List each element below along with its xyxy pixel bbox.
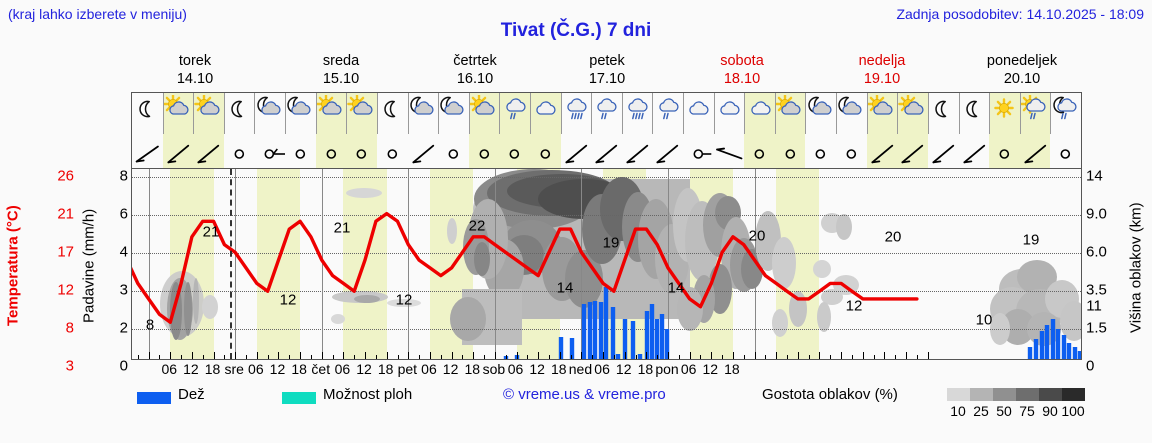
icon-cell-divider — [499, 93, 500, 136]
x-tick — [744, 355, 745, 359]
weather-icon-cloud — [683, 93, 714, 135]
icon-cell-divider — [989, 93, 990, 136]
x-tick — [149, 352, 150, 359]
temperature-tick: 21 — [57, 206, 74, 223]
x-tick — [159, 355, 160, 359]
precipitation-tick: 8 — [120, 168, 128, 185]
temperature-tick: 8 — [66, 320, 74, 337]
cloud-density-swatch — [993, 388, 1016, 401]
x-tick — [484, 355, 485, 359]
weather-icon-sun-cloud — [469, 93, 500, 135]
x-tick — [560, 352, 561, 359]
x-tick — [343, 352, 344, 359]
x-tick — [138, 355, 139, 359]
day-header-1: torek14.10 — [135, 52, 255, 88]
wind-barb — [867, 134, 898, 168]
x-tick — [646, 352, 647, 359]
x-tick — [928, 352, 929, 359]
day-date: 14.10 — [135, 70, 255, 88]
x-axis-label: 06 — [335, 361, 351, 377]
icon-cell-divider — [346, 93, 347, 136]
weather-icon-sun-cloud — [775, 93, 806, 135]
wind-barb — [499, 134, 530, 168]
temperature-axis-title: Temperatura (°C) — [2, 168, 24, 363]
wind-barb — [1020, 134, 1051, 168]
showers-legend-label: Možnost ploh — [323, 386, 412, 403]
wind-barb — [316, 134, 347, 168]
x-tick — [506, 355, 507, 359]
x-tick — [722, 355, 723, 359]
cloud-density-scale-ticks: 1025507590100 — [947, 403, 1087, 421]
x-tick — [852, 355, 853, 359]
icon-cell-divider — [928, 93, 929, 136]
x-tick — [863, 352, 864, 359]
x-axis-label: 18 — [205, 361, 221, 377]
x-tick — [408, 352, 409, 359]
icon-cell-divider — [377, 93, 378, 136]
day-header-4: petek17.10 — [547, 52, 667, 88]
x-tick — [419, 355, 420, 359]
wind-barb — [377, 134, 408, 168]
icon-cell-divider — [1020, 93, 1021, 136]
wind-barb — [132, 134, 163, 168]
precipitation-tick: 0 — [120, 358, 128, 375]
day-header-2: sreda15.10 — [281, 52, 401, 88]
day-name: ponedeljek — [962, 52, 1082, 70]
x-tick — [473, 352, 474, 359]
x-axis-label: 12 — [443, 361, 459, 377]
x-tick — [819, 352, 820, 359]
x-axis-label: 06 — [161, 361, 177, 377]
x-tick — [581, 352, 582, 359]
forecast-chart — [131, 168, 1082, 360]
x-tick — [895, 355, 896, 359]
icon-cell-divider — [254, 93, 255, 136]
x-tick — [798, 352, 799, 359]
weather-icon-sun-cloud — [346, 93, 377, 135]
x-axis-label: 06 — [681, 361, 697, 377]
wind-barb — [775, 134, 806, 168]
x-tick — [733, 352, 734, 359]
x-axis-label: 18 — [638, 361, 654, 377]
x-axis-label: 18 — [551, 361, 567, 377]
x-tick — [278, 352, 279, 359]
showers-legend-swatch — [282, 392, 316, 404]
temperature-axis-ticks: 2621171283 — [34, 160, 74, 365]
weather-icon-moon-cloud — [285, 93, 316, 135]
x-tick — [322, 352, 323, 359]
day-name: torek — [135, 52, 255, 70]
x-tick — [603, 352, 604, 359]
x-tick — [235, 352, 236, 359]
day-date: 19.10 — [822, 70, 942, 88]
day-date: 18.10 — [682, 70, 802, 88]
x-tick — [181, 355, 182, 359]
icon-cell-divider — [561, 93, 562, 136]
weather-icon-row — [131, 92, 1082, 136]
x-axis-label: 06 — [421, 361, 437, 377]
wind-barb — [285, 134, 316, 168]
icon-cell-divider — [1050, 93, 1051, 136]
x-tick — [527, 355, 528, 359]
cloudheight-tick: 1.5 — [1086, 320, 1107, 337]
icon-cell-divider — [775, 93, 776, 136]
rain-legend-swatch — [137, 392, 171, 404]
cloud-density-swatch — [1062, 388, 1085, 401]
day-header-5: sobota18.10 — [682, 52, 802, 88]
x-tick — [170, 352, 171, 359]
icon-cell-divider — [652, 93, 653, 136]
x-tick — [376, 355, 377, 359]
icon-cell-divider — [408, 93, 409, 136]
current-time-marker — [230, 169, 232, 359]
weather-icon-moon — [132, 93, 163, 135]
cloud-density-swatch — [947, 388, 970, 401]
x-tick — [776, 352, 777, 359]
precipitation-tick: 4 — [120, 244, 128, 261]
weather-icon-sun-cloud — [867, 93, 898, 135]
x-axis-labels: 061218sre061218čet061218pet061218sob0612… — [131, 361, 1082, 381]
wind-barb — [836, 134, 867, 168]
weather-icon-moon — [959, 93, 990, 135]
wind-barb — [224, 134, 255, 168]
x-tick — [257, 352, 258, 359]
x-tick — [765, 355, 766, 359]
weather-icon-moon-cloud-rain — [1050, 93, 1081, 135]
copyright-link[interactable]: © vreme.us & vreme.pro — [503, 386, 666, 403]
day-name: sobota — [682, 52, 802, 70]
x-tick — [538, 352, 539, 359]
x-tick — [192, 352, 193, 359]
x-tick — [830, 355, 831, 359]
x-axis-label: pet — [398, 361, 417, 377]
day-name: četrtek — [415, 52, 535, 70]
x-tick — [636, 355, 637, 359]
x-tick — [246, 355, 247, 359]
precipitation-axis-ticks: 864320 — [104, 160, 128, 365]
day-name: petek — [547, 52, 667, 70]
weather-icon-cloud — [744, 93, 775, 135]
x-tick — [700, 355, 701, 359]
wind-barb-row — [131, 134, 1082, 168]
x-tick — [668, 352, 669, 359]
wind-barb — [591, 134, 622, 168]
icon-cell-divider — [805, 93, 806, 136]
x-axis-label: pon — [655, 361, 678, 377]
icon-cell-divider — [867, 93, 868, 136]
x-tick — [214, 352, 215, 359]
last-update-text: Zadnja posodobitev: 14.10.2025 - 18:09 — [896, 6, 1144, 22]
precipitation-tick: 3 — [120, 282, 128, 299]
x-tick — [906, 352, 907, 359]
temperature-tick: 3 — [66, 358, 74, 375]
weather-icon-moon-cloud — [408, 93, 439, 135]
day-name: nedelja — [822, 52, 942, 70]
x-tick — [592, 355, 593, 359]
icon-cell-divider — [316, 93, 317, 136]
icon-cell-divider — [438, 93, 439, 136]
weather-icon-moon-cloud — [836, 93, 867, 135]
cloudheight-tick: 14 — [1086, 168, 1103, 185]
day-date: 15.10 — [281, 70, 401, 88]
x-tick — [657, 355, 658, 359]
day-header-3: četrtek16.10 — [415, 52, 535, 88]
weather-icon-sun-cloud — [193, 93, 224, 135]
cloudheight-axis-title: Višina oblakov (km) — [1124, 168, 1148, 368]
icon-cell-divider — [714, 93, 715, 136]
x-tick — [398, 355, 399, 359]
x-tick — [224, 355, 225, 359]
x-tick — [311, 355, 312, 359]
cloudheight-tick: 9.0 — [1086, 206, 1107, 223]
x-tick — [809, 355, 810, 359]
wind-barb — [346, 134, 377, 168]
day-header-row: torek14.10sreda15.10četrtek16.10petek17.… — [131, 52, 1082, 92]
icon-cell-divider — [530, 93, 531, 136]
wind-barb — [193, 134, 224, 168]
x-tick — [300, 352, 301, 359]
x-axis-label: sob — [483, 361, 506, 377]
icon-cell-divider — [193, 93, 194, 136]
weather-icon-cloud-rain — [591, 93, 622, 135]
icon-cell-divider — [836, 93, 837, 136]
weather-icon-sun-cloud — [897, 93, 928, 135]
x-tick — [452, 352, 453, 359]
temperature-tick: 17 — [57, 244, 74, 261]
x-axis-label: 12 — [270, 361, 286, 377]
weather-icon-moon — [224, 93, 255, 135]
weather-icon-sun-cloud — [316, 93, 347, 135]
x-tick — [571, 355, 572, 359]
weather-icon-cloud — [530, 93, 561, 135]
x-axis-label: 06 — [508, 361, 524, 377]
x-axis-label: 06 — [248, 361, 264, 377]
precipitation-axis-title: Padavine (mm/h) — [78, 168, 100, 363]
weather-icon-moon-cloud — [254, 93, 285, 135]
cloud-density-tick: 50 — [996, 403, 1012, 419]
x-tick — [841, 352, 842, 359]
weather-icon-cloud-rain — [499, 93, 530, 135]
icon-cell-divider — [959, 93, 960, 136]
wind-barb — [714, 134, 745, 168]
x-axis-label: 18 — [724, 361, 740, 377]
x-tick — [441, 355, 442, 359]
temperature-tick: 26 — [57, 168, 74, 185]
x-axis-label: 12 — [529, 361, 545, 377]
x-tick — [365, 352, 366, 359]
day-header-7: ponedeljek20.10 — [962, 52, 1082, 88]
x-tick — [333, 355, 334, 359]
x-tick — [387, 352, 388, 359]
temperature-tick: 12 — [57, 282, 74, 299]
icon-cell-divider — [285, 93, 286, 136]
cloud-density-scale — [947, 388, 1085, 401]
icon-cell-divider — [591, 93, 592, 136]
wind-barb — [469, 134, 500, 168]
x-axis-label: 12 — [183, 361, 199, 377]
rain-legend-label: Dež — [178, 386, 205, 403]
wind-barb — [408, 134, 439, 168]
day-name: sreda — [281, 52, 401, 70]
cloud-density-tick: 75 — [1019, 403, 1035, 419]
wind-barb — [928, 134, 959, 168]
weather-icon-moon — [377, 93, 408, 135]
cloud-density-tick: 100 — [1061, 403, 1084, 419]
day-header-6: nedelja19.10 — [822, 52, 942, 88]
cloud-density-swatch — [1039, 388, 1062, 401]
wind-barb — [561, 134, 592, 168]
x-tick — [495, 352, 496, 359]
weather-icon-moon-cloud — [805, 93, 836, 135]
x-tick — [517, 352, 518, 359]
x-axis-label: 18 — [291, 361, 307, 377]
weather-icon-sun-cloud — [163, 93, 194, 135]
x-axis-label: ned — [569, 361, 592, 377]
day-date: 20.10 — [962, 70, 1082, 88]
x-tick — [690, 352, 691, 359]
weather-icon-cloud — [714, 93, 745, 135]
weather-icon-cloud-rain-heavy — [622, 93, 653, 135]
x-tick — [679, 355, 680, 359]
x-tick — [711, 352, 712, 359]
wind-barb — [989, 134, 1020, 168]
x-tick — [625, 352, 626, 359]
cloudheight-axis-ticks: 149.06.03.51.50 — [1086, 160, 1126, 365]
precipitation-tick: 6 — [120, 206, 128, 223]
x-axis-ticks — [132, 169, 1081, 359]
icon-cell-divider — [469, 93, 470, 136]
wind-barb — [897, 134, 928, 168]
precipitation-tick: 2 — [120, 320, 128, 337]
weather-icon-moon — [928, 93, 959, 135]
x-tick — [614, 355, 615, 359]
day-date: 16.10 — [415, 70, 535, 88]
x-tick — [874, 355, 875, 359]
day-date: 17.10 — [547, 70, 667, 88]
x-tick — [430, 352, 431, 359]
x-axis-label: 18 — [464, 361, 480, 377]
wind-barb — [530, 134, 561, 168]
weather-icon-sun-cloud-rain — [1020, 93, 1051, 135]
icon-cell-divider — [622, 93, 623, 136]
weather-icon-cloud-rain-heavy — [561, 93, 592, 135]
cloud-density-swatch — [1016, 388, 1039, 401]
x-axis-label: sre — [224, 361, 243, 377]
x-tick — [462, 355, 463, 359]
cloudheight-tick: 0 — [1086, 358, 1094, 375]
icon-cell-divider — [224, 93, 225, 136]
cloud-density-swatch — [970, 388, 993, 401]
cloud-density-tick: 10 — [950, 403, 966, 419]
x-tick — [884, 352, 885, 359]
icon-cell-divider — [897, 93, 898, 136]
wind-barb — [805, 134, 836, 168]
x-tick — [268, 355, 269, 359]
x-tick — [917, 355, 918, 359]
page-title: Tivat (Č.G.) 7 dni — [0, 20, 1152, 42]
x-axis-label: čet — [311, 361, 330, 377]
wind-barb — [1050, 134, 1081, 168]
wind-barb — [959, 134, 990, 168]
cloud-density-tick: 25 — [973, 403, 989, 419]
x-tick — [787, 355, 788, 359]
wind-barb — [163, 134, 194, 168]
icon-cell-divider — [744, 93, 745, 136]
cloudheight-tick: 3.5 — [1086, 282, 1107, 299]
weather-icon-sun — [989, 93, 1020, 135]
wind-barb — [254, 134, 285, 168]
x-axis-label: 12 — [702, 361, 718, 377]
icon-cell-divider — [683, 93, 684, 136]
wind-barb — [438, 134, 469, 168]
cloud-density-legend-label: Gostota oblakov (%) — [762, 386, 898, 403]
x-axis-label: 12 — [356, 361, 372, 377]
x-axis-label: 12 — [616, 361, 632, 377]
weather-icon-moon-cloud — [438, 93, 469, 135]
x-tick — [755, 352, 756, 359]
cloudheight-tick: 6.0 — [1086, 244, 1107, 261]
x-tick — [289, 355, 290, 359]
cloud-density-tick: 90 — [1042, 403, 1058, 419]
x-tick — [354, 355, 355, 359]
wind-barb — [652, 134, 683, 168]
wind-barb — [622, 134, 653, 168]
x-tick — [549, 355, 550, 359]
x-tick — [203, 355, 204, 359]
icon-cell-divider — [163, 93, 164, 136]
chart-legend: Dež Možnost ploh © vreme.us & vreme.pro … — [0, 386, 1152, 431]
weather-icon-cloud-rain — [652, 93, 683, 135]
x-axis-label: 18 — [378, 361, 394, 377]
x-axis-label: 06 — [594, 361, 610, 377]
wind-barb — [683, 134, 714, 168]
wind-barb — [744, 134, 775, 168]
